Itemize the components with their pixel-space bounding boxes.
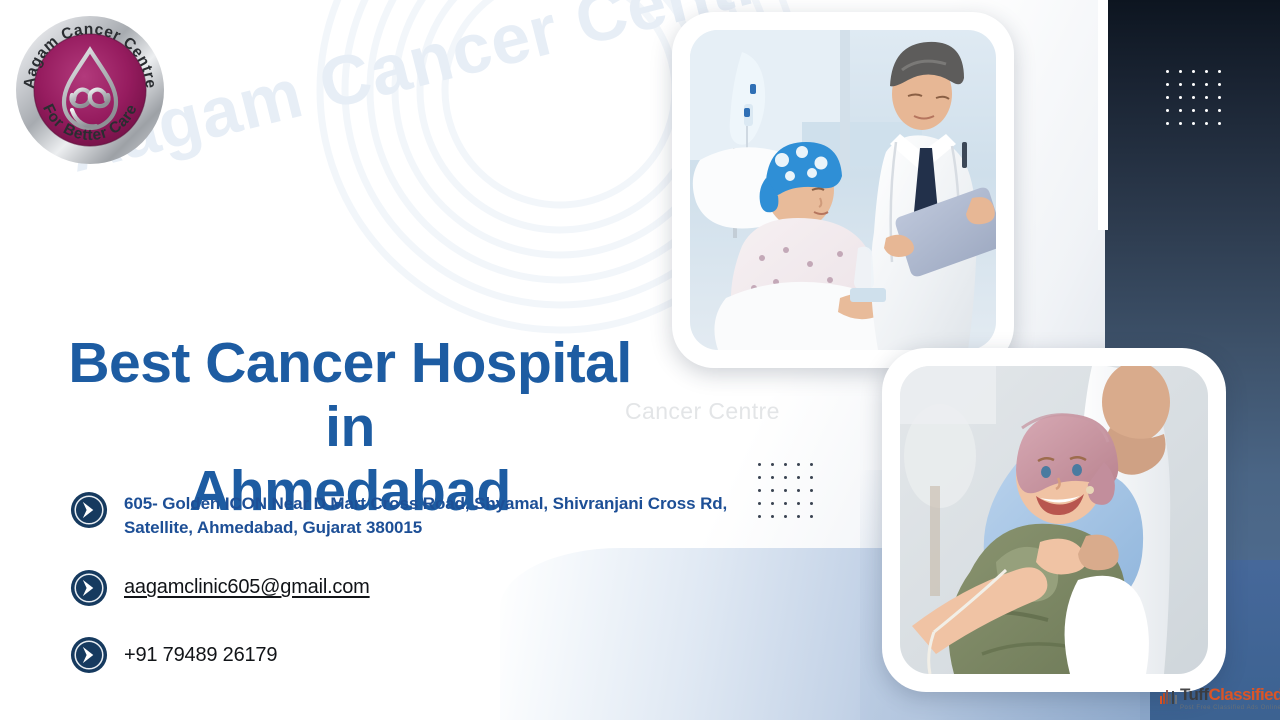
contact-row-email[interactable]: aagamclinic605@gmail.com	[70, 568, 730, 607]
panel-notch	[1098, 0, 1108, 230]
arrow-right-circle-icon	[70, 491, 108, 529]
photo-frame	[690, 30, 996, 350]
child-patient-photo	[900, 366, 1208, 674]
tuffclassified-watermark: TuffClassified Post Free Classified Ads …	[1160, 686, 1280, 711]
tuff-word: Tuff	[1180, 685, 1208, 704]
phone-number[interactable]: +91 79489 26179	[124, 635, 277, 667]
tuffclassified-tagline: Post Free Classified Ads Online	[1180, 705, 1280, 711]
tuffclassified-text: TuffClassified Post Free Classified Ads …	[1180, 686, 1280, 711]
email-link[interactable]: aagamclinic605@gmail.com	[124, 568, 370, 599]
headline-line-1: Best Cancer Hospital in	[45, 332, 655, 460]
aagam-cancer-centre-logo: Aagam Cancer Centre For Better Care	[14, 14, 166, 166]
tuffclassified-name: TuffClassified	[1180, 686, 1280, 703]
arrow-right-circle-icon	[70, 569, 108, 607]
photo-card-doctor-patient	[672, 12, 1014, 368]
contact-row-address: 605- Golden ICON Near D Mart Cross Road,…	[70, 490, 730, 540]
promo-banner: Aagam Cancer Centre Cancer Centre	[0, 0, 1280, 720]
dot-grid-center	[758, 463, 823, 528]
contact-row-phone[interactable]: +91 79489 26179	[70, 635, 730, 674]
photo-card-child-patient	[882, 348, 1226, 692]
doctor-patient-photo	[690, 30, 996, 350]
contact-list: 605- Golden ICON Near D Mart Cross Road,…	[70, 490, 730, 674]
address-text: 605- Golden ICON Near D Mart Cross Road,…	[124, 490, 730, 540]
dot-grid-top-right	[1166, 70, 1231, 135]
bar-chart-icon	[1160, 689, 1177, 704]
photo-frame	[900, 366, 1208, 674]
classified-word: Classified	[1208, 685, 1280, 704]
arrow-right-circle-icon	[70, 636, 108, 674]
